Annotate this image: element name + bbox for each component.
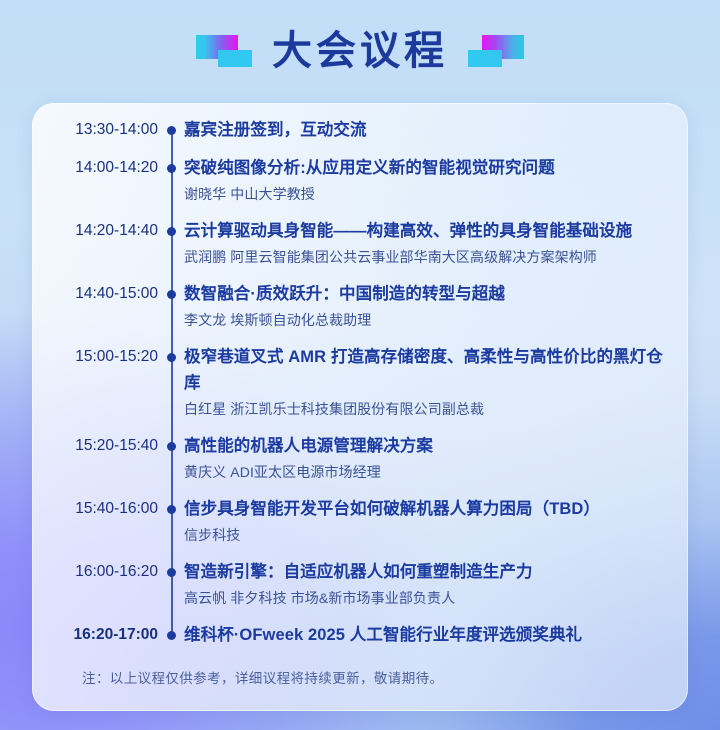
agenda-row: 14:40-15:00数智融合·质效跃升：中国制造的转型与超越李文龙 埃斯顿自动… [32,281,688,344]
agenda-row-time: 15:20-15:40 [32,433,158,459]
gradient-blocks-right-icon [462,28,530,74]
timeline-dot-icon [167,290,176,299]
agenda-row-title: 云计算驱动具身智能——构建高效、弹性的具身智能基础设施 [184,218,674,244]
timeline-marker [158,433,184,496]
timeline-dot-icon [167,126,176,135]
agenda-row-time: 16:00-16:20 [32,559,158,585]
agenda-row-body: 维科杯·OFweek 2025 人工智能行业年度评选颁奖典礼 [184,622,674,660]
timeline-marker [158,117,184,155]
agenda-note: 注：以上议程仅供参考，详细议程将持续更新，敬请期待。 [82,668,443,690]
agenda-row: 16:20-17:00维科杯·OFweek 2025 人工智能行业年度评选颁奖典… [32,622,688,660]
agenda-card: 13:30-14:00嘉宾注册签到，互动交流14:00-14:20突破纯图像分析… [32,103,688,711]
agenda-row-body: 极窄巷道叉式 AMR 打造高存储密度、高柔性与高性价比的黑灯仓库白红星 浙江凯乐… [184,344,674,433]
timeline-marker [158,496,184,559]
timeline-marker [158,622,184,660]
timeline-dot-icon [167,631,176,640]
agenda-row-title: 嘉宾注册签到，互动交流 [184,117,674,143]
agenda-row-title: 极窄巷道叉式 AMR 打造高存储密度、高柔性与高性价比的黑灯仓库 [184,344,674,396]
agenda-row-title: 维科杯·OFweek 2025 人工智能行业年度评选颁奖典礼 [184,622,674,648]
timeline-dot-icon [167,353,176,362]
agenda-row-speaker: 李文龙 埃斯顿自动化总裁助理 [184,308,674,332]
agenda-row-time: 16:20-17:00 [32,622,158,648]
agenda-row-body: 突破纯图像分析:从应用定义新的智能视觉研究问题谢晓华 中山大学教授 [184,155,674,218]
agenda-row-speaker: 谢晓华 中山大学教授 [184,182,674,206]
agenda-row-time: 14:20-14:40 [32,218,158,244]
agenda-row-time: 13:30-14:00 [32,117,158,143]
agenda-row: 16:00-16:20智造新引擎：自适应机器人如何重塑制造生产力高云帆 非夕科技… [32,559,688,622]
timeline-dot-icon [167,505,176,514]
agenda-row-title: 突破纯图像分析:从应用定义新的智能视觉研究问题 [184,155,674,181]
agenda-timeline: 13:30-14:00嘉宾注册签到，互动交流14:00-14:20突破纯图像分析… [32,103,688,660]
agenda-row: 15:40-16:00信步具身智能开发平台如何破解机器人算力困局（TBD）信步科… [32,496,688,559]
agenda-row-time: 14:00-14:20 [32,155,158,181]
timeline-dot-icon [167,227,176,236]
agenda-row-speaker: 白红星 浙江凯乐士科技集团股份有限公司副总裁 [184,397,674,421]
timeline-marker [158,155,184,218]
agenda-row-body: 云计算驱动具身智能——构建高效、弹性的具身智能基础设施武润鹏 阿里云智能集团公共… [184,218,674,281]
agenda-row-title: 信步具身智能开发平台如何破解机器人算力困局（TBD） [184,496,674,522]
agenda-row-body: 高性能的机器人电源管理解决方案黄庆义 ADI亚太区电源市场经理 [184,433,674,496]
agenda-row-body: 信步具身智能开发平台如何破解机器人算力困局（TBD）信步科技 [184,496,674,559]
gradient-blocks-left-icon [190,28,258,74]
agenda-row-title: 数智融合·质效跃升：中国制造的转型与超越 [184,281,674,307]
timeline-marker [158,559,184,622]
timeline-marker [158,344,184,433]
gradient-block-b [218,50,252,67]
agenda-row-body: 智造新引擎：自适应机器人如何重塑制造生产力高云帆 非夕科技 市场&新市场事业部负… [184,559,674,622]
timeline-dot-icon [167,164,176,173]
timeline-marker [158,281,184,344]
agenda-row-time: 14:40-15:00 [32,281,158,307]
timeline-dot-icon [167,442,176,451]
agenda-row: 14:20-14:40云计算驱动具身智能——构建高效、弹性的具身智能基础设施武润… [32,218,688,281]
agenda-row-body: 嘉宾注册签到，互动交流 [184,117,674,155]
agenda-row-title: 智造新引擎：自适应机器人如何重塑制造生产力 [184,559,674,585]
agenda-row: 13:30-14:00嘉宾注册签到，互动交流 [32,117,688,155]
page-header: 大会议程 [0,18,720,84]
agenda-row-title: 高性能的机器人电源管理解决方案 [184,433,674,459]
agenda-row-speaker: 黄庆义 ADI亚太区电源市场经理 [184,460,674,484]
agenda-row: 15:00-15:20极窄巷道叉式 AMR 打造高存储密度、高柔性与高性价比的黑… [32,344,688,433]
agenda-row-time: 15:00-15:20 [32,344,158,370]
timeline-marker [158,218,184,281]
page-title: 大会议程 [258,31,462,71]
agenda-row-speaker: 高云帆 非夕科技 市场&新市场事业部负责人 [184,586,674,610]
agenda-row: 14:00-14:20突破纯图像分析:从应用定义新的智能视觉研究问题谢晓华 中山… [32,155,688,218]
agenda-row-time: 15:40-16:00 [32,496,158,522]
agenda-row-speaker: 信步科技 [184,523,674,547]
agenda-row: 15:20-15:40高性能的机器人电源管理解决方案黄庆义 ADI亚太区电源市场… [32,433,688,496]
agenda-poster: 大会议程 13:30-14:00嘉宾注册签到，互动交流14:00-14:20突破… [0,0,720,730]
agenda-row-speaker: 武润鹏 阿里云智能集团公共云事业部华南大区高级解决方案架构师 [184,245,674,269]
agenda-row-body: 数智融合·质效跃升：中国制造的转型与超越李文龙 埃斯顿自动化总裁助理 [184,281,674,344]
timeline-dot-icon [167,568,176,577]
gradient-block-b [468,50,502,67]
